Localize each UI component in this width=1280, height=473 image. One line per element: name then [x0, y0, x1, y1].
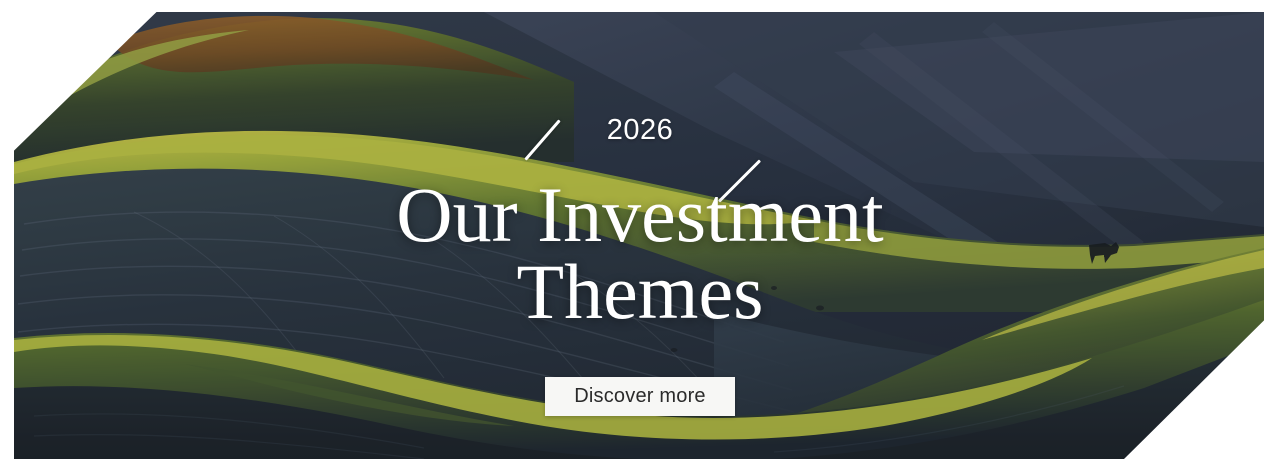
cta-container: Discover more — [0, 377, 1280, 416]
page-title-line-1: Our Investment — [0, 176, 1280, 253]
hero-year-label: 2026 — [0, 116, 1280, 145]
discover-more-button[interactable]: Discover more — [545, 377, 735, 416]
year-decoration-row: 2026 — [0, 108, 1280, 178]
page-title: Our Investment Themes — [0, 176, 1280, 330]
hero-banner-stage: 2026 Our Investment Themes Discover more — [0, 0, 1280, 473]
hero-overlay-content: 2026 Our Investment Themes Discover more — [0, 0, 1280, 473]
page-title-line-2: Themes — [0, 253, 1280, 330]
